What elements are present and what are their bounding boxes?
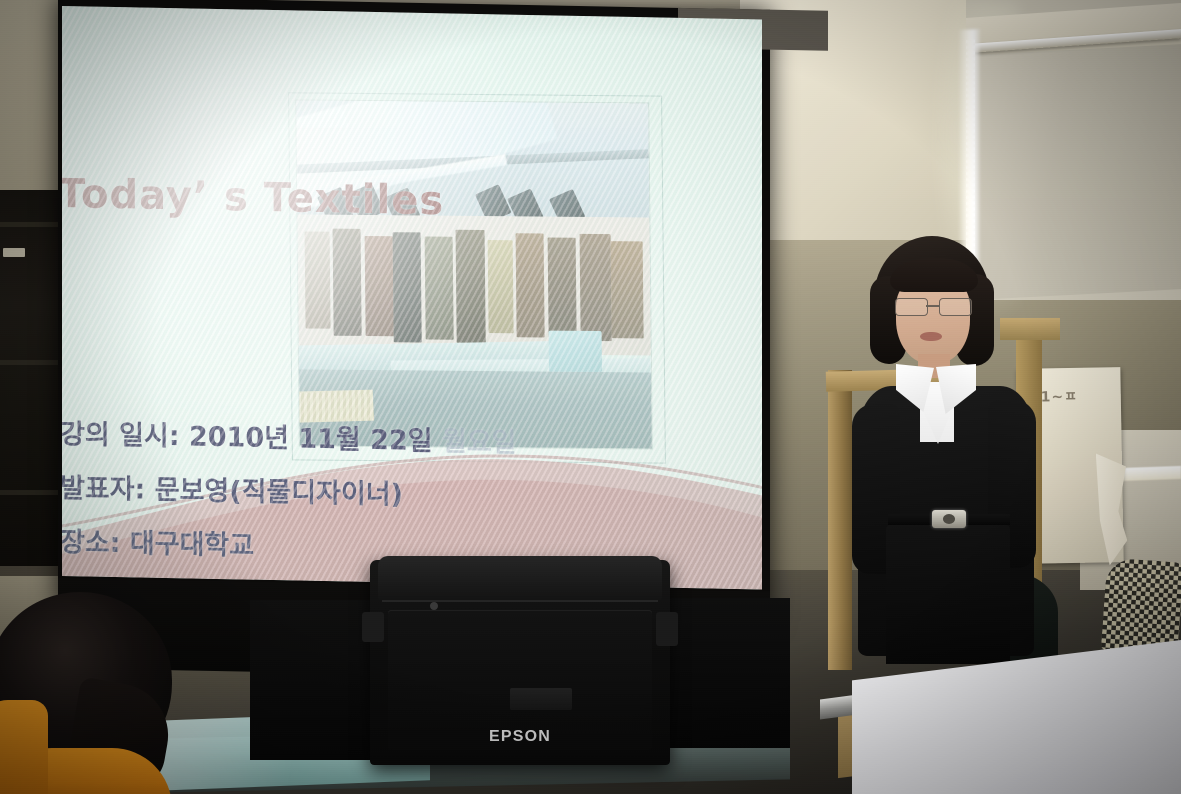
eyeglass-lens-right: [939, 298, 972, 316]
chair-houndstooth-fabric: [1101, 557, 1181, 654]
presenter-mouth: [920, 332, 942, 341]
slide-line-presenter-label: 발표자:: [62, 473, 145, 506]
slide-line-date-value: 2010년 11월 22일: [189, 421, 433, 457]
projector-handle-left: [362, 612, 384, 642]
slide-title: Today’ s Textiles: [62, 171, 478, 225]
projector-lid: [378, 556, 662, 600]
belt-buckle-icon: [932, 510, 966, 528]
projector-brand-label: EPSON: [370, 728, 670, 746]
projected-slide: Today’ s Textiles 강의 일시: 2010년 11월 22일 월…: [62, 6, 762, 589]
eyeglasses-icon: [894, 298, 972, 315]
projector-bag: EPSON: [370, 560, 670, 765]
photograph-root: 한1~ㅍ: [0, 0, 1181, 794]
presenter-skirt: [886, 524, 1010, 664]
projector-zipper-pull: [430, 602, 438, 610]
slide-line-venue-label: 장소:: [62, 527, 120, 559]
slide-line-presenter-value: 문보영(직물디자이너): [155, 475, 403, 511]
projector-shadow-left: [250, 600, 380, 760]
slide-line-venue-value: 대구대학교: [130, 528, 254, 561]
eyeglass-bridge: [926, 305, 939, 307]
projector-seam: [382, 600, 658, 602]
presenter: [846, 236, 1056, 656]
audience-shoulder-left: [0, 700, 48, 794]
slide-line-date-weekday: 월요일: [442, 426, 517, 458]
projector-shadow-right: [660, 598, 790, 748]
slide-line-date-label: 강의 일시:: [62, 419, 180, 452]
slide-line-presenter: 발표자: 문보영(직물디자이너): [62, 475, 680, 514]
projector-handle-right: [656, 612, 678, 646]
presenter-fringe: [890, 258, 978, 292]
projector-strap-loop: [510, 688, 572, 710]
cabinet-latch-icon: [3, 248, 25, 257]
eyeglass-lens-left: [895, 298, 928, 316]
